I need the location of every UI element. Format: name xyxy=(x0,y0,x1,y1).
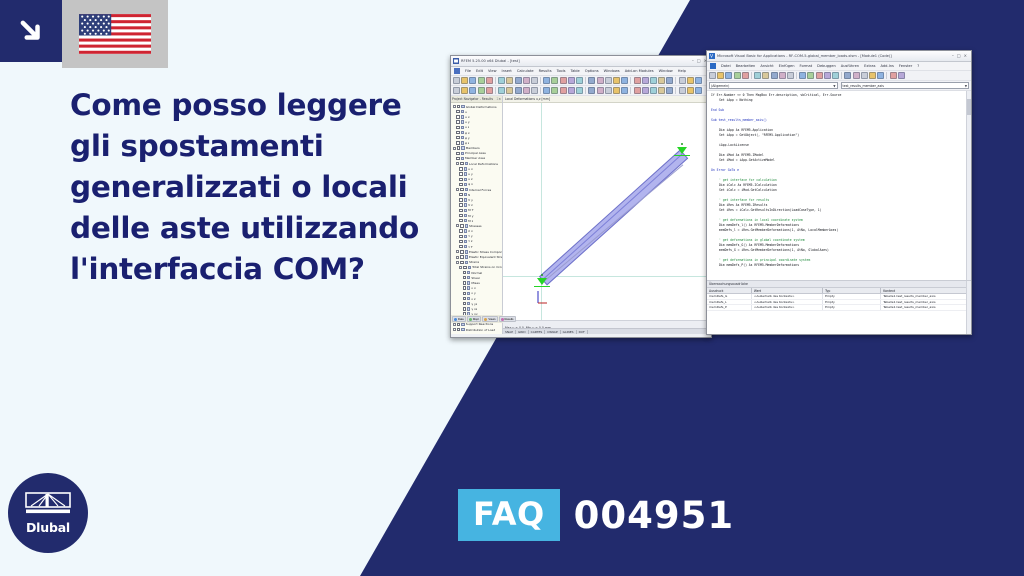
rfem-menubar[interactable]: File Edit View Insert Calculate Results … xyxy=(451,67,711,76)
tree-expand-icon[interactable] xyxy=(456,256,459,259)
toolbar-button[interactable] xyxy=(742,72,749,79)
tree-checkbox[interactable] xyxy=(459,245,462,248)
toolbar-button[interactable] xyxy=(877,72,884,79)
menu-item-results[interactable]: Results xyxy=(539,69,552,73)
rfem-toolbar-row-1[interactable] xyxy=(451,76,711,86)
menu-item-edit[interactable]: Edit xyxy=(476,69,483,73)
tab-dot-icon xyxy=(484,318,487,321)
tree-node-label: φ z xyxy=(465,141,470,145)
toolbar-button[interactable] xyxy=(621,87,628,94)
tree-node-label: V z xyxy=(468,203,473,207)
toolbar-button[interactable] xyxy=(725,72,732,79)
model-canvas[interactable] xyxy=(503,103,711,334)
tree-node-icon xyxy=(461,152,464,155)
faq-label: FAQ xyxy=(458,489,560,541)
column-header-type[interactable]: Typ xyxy=(823,288,881,293)
toolbar-button[interactable] xyxy=(515,87,522,94)
tree-node-label: Total Strains on Cross-Se. xyxy=(472,265,502,269)
tree-checkbox[interactable] xyxy=(456,136,459,139)
tree-node-icon xyxy=(464,240,467,243)
tree-node-label: Stresses xyxy=(469,224,482,228)
tree-checkbox[interactable] xyxy=(459,193,462,196)
toolbar-button[interactable] xyxy=(531,87,538,94)
tree-node-label: γ xz xyxy=(471,307,477,311)
menu-item-table[interactable]: Table xyxy=(570,69,579,73)
menu-item-ansicht[interactable]: Ansicht xyxy=(760,64,773,68)
tree-node-icon xyxy=(461,157,464,160)
navigator-header: Project Navigator - Results ⌶✕ xyxy=(451,96,502,103)
rfem-title-text: RFEM 5.25.00 x64 Dlubal - [test] xyxy=(461,59,690,63)
toolbar-button[interactable] xyxy=(799,72,806,79)
tree-checkbox[interactable] xyxy=(459,172,462,175)
tree-node-icon xyxy=(461,105,464,108)
toolbar-button[interactable] xyxy=(588,87,595,94)
rfem-toolbar-row-2[interactable] xyxy=(451,86,711,96)
menu-item-file[interactable]: File xyxy=(465,69,471,73)
toolbar-button[interactable] xyxy=(498,87,505,94)
tree-expand-icon[interactable] xyxy=(456,162,459,165)
toolbar-button[interactable] xyxy=(762,72,769,79)
statusbar-cell[interactable]: SNAP xyxy=(503,330,516,334)
toolbar-button[interactable] xyxy=(597,87,604,94)
menu-item-ausfuehren[interactable]: Ausführen xyxy=(841,64,859,68)
maximize-button[interactable]: □ xyxy=(957,54,961,58)
column-header-context[interactable]: Kontext xyxy=(881,288,971,293)
toolbar-button[interactable] xyxy=(498,77,505,84)
tree-node-label: Mises xyxy=(471,281,479,285)
toolbar-separator xyxy=(841,72,842,79)
toolbar-button[interactable] xyxy=(658,87,665,94)
toolbar-button[interactable] xyxy=(695,87,702,94)
toolbar-button[interactable] xyxy=(650,77,657,84)
menu-item-addon-modules[interactable]: Add-on Modules xyxy=(625,69,654,73)
support-end-icon[interactable] xyxy=(677,147,687,154)
navigator-tab-label: Results xyxy=(505,318,514,321)
toolbar-button[interactable] xyxy=(506,77,513,84)
procedure-combo-value: test_results_member_axis xyxy=(843,84,884,88)
toolbar-button[interactable] xyxy=(807,72,814,79)
statusbar-cell[interactable]: OSNAP xyxy=(545,330,560,334)
tree-node-label: M y xyxy=(468,214,473,218)
menu-item-extras[interactable]: Extras xyxy=(864,64,875,68)
dlubal-truss-icon xyxy=(25,492,71,518)
toolbar-button[interactable] xyxy=(634,77,641,84)
tree-expand-icon[interactable] xyxy=(456,250,459,253)
tree-node-icon xyxy=(464,198,467,201)
arrow-badge xyxy=(0,0,62,62)
code-scrollbar[interactable] xyxy=(966,91,971,280)
toolbar-button[interactable] xyxy=(658,77,665,84)
tree-checkbox[interactable] xyxy=(459,214,462,217)
tree-node-icon xyxy=(461,110,464,113)
tree-node-label: V y xyxy=(468,198,473,202)
tree-node-icon xyxy=(468,266,471,269)
tree-checkbox[interactable] xyxy=(459,198,462,201)
toolbar-button[interactable] xyxy=(709,72,716,79)
toolbar-button[interactable] xyxy=(861,72,868,79)
tree-checkbox[interactable] xyxy=(459,203,462,206)
tree-expand-icon[interactable] xyxy=(456,188,459,191)
tree-expand-icon[interactable] xyxy=(453,147,456,150)
statusbar-cell[interactable]: CARTES xyxy=(529,330,546,334)
tree-node[interactable]: Distribution of Load xyxy=(452,327,502,332)
menu-item-bearbeiten[interactable]: Bearbeiten xyxy=(736,64,756,68)
tree-node-icon xyxy=(465,255,468,258)
tree-checkbox[interactable] xyxy=(459,178,462,181)
page-title: Come posso leggere gli spostamenti gener… xyxy=(70,85,430,290)
vba-menubar[interactable]: Datei Bearbeiten Ansicht Einfügen Format… xyxy=(707,62,971,71)
toolbar-button[interactable] xyxy=(832,72,839,79)
rfem-app-icon xyxy=(453,58,459,64)
menu-item-help[interactable]: ? xyxy=(917,64,919,68)
toolbar-separator xyxy=(675,87,676,94)
menu-item-insert[interactable]: Insert xyxy=(502,69,512,73)
toolbar-button[interactable] xyxy=(515,77,522,84)
tree-checkbox[interactable] xyxy=(463,286,466,289)
toolbar-button[interactable] xyxy=(613,87,620,94)
toolbar-button[interactable] xyxy=(621,77,628,84)
tree-checkbox[interactable] xyxy=(463,302,466,305)
toolbar-button[interactable] xyxy=(551,77,558,84)
toolbar-button[interactable] xyxy=(486,77,493,84)
toolbar-button[interactable] xyxy=(531,77,538,84)
toolbar-button[interactable] xyxy=(687,87,694,94)
tree-node-icon xyxy=(461,323,464,326)
code-line[interactable]: Dim memDefs_P() As RFEM5.MemberDeformati… xyxy=(711,263,970,268)
tree-checkbox[interactable] xyxy=(463,281,466,284)
menu-item-window[interactable]: Window xyxy=(659,69,673,73)
watch-scrollbar[interactable] xyxy=(966,281,971,335)
watch-cell: <Außerhalb des Kontexts> xyxy=(752,305,823,310)
tree-node-icon xyxy=(461,141,464,144)
tree-checkbox[interactable] xyxy=(459,219,462,222)
tree-checkbox[interactable] xyxy=(456,115,459,118)
toolbar-button[interactable] xyxy=(576,77,583,84)
watch-window[interactable]: Überwachungsausdrücke Ausdruck Wert Typ … xyxy=(707,281,971,335)
tree-node-label: M z xyxy=(468,219,473,223)
toolbar-button[interactable] xyxy=(898,72,905,79)
navigator-tab-displ[interactable]: Displ. xyxy=(467,316,482,322)
tree-node-icon xyxy=(467,281,470,284)
toolbar-separator xyxy=(540,87,541,94)
rfem-titlebar[interactable]: RFEM 5.25.00 x64 Dlubal - [test] – □ × xyxy=(451,56,711,67)
toolbar-button[interactable] xyxy=(642,87,649,94)
toolbar-button[interactable] xyxy=(679,77,686,84)
statusbar-cell[interactable]: GLINES xyxy=(561,330,577,334)
results-tree[interactable]: Global Deformationsuu xu yu zφ xφ yφ zMe… xyxy=(451,103,502,332)
toolbar-button[interactable] xyxy=(597,77,604,84)
tree-node-label: ε z xyxy=(471,297,475,301)
tree-checkbox[interactable] xyxy=(463,266,466,269)
tree-checkbox[interactable] xyxy=(457,105,460,108)
navigator-tab-label: Views xyxy=(488,318,495,321)
member-axis-line xyxy=(544,154,683,279)
menu-item-fenster[interactable]: Fenster xyxy=(899,64,912,68)
tree-node-label: ε y xyxy=(471,291,475,295)
tree-node-label: Strains xyxy=(469,260,479,264)
toolbar-button[interactable] xyxy=(543,77,550,84)
toolbar-button[interactable] xyxy=(642,77,649,84)
toolbar-separator xyxy=(675,77,676,84)
column-header-value[interactable]: Wert xyxy=(752,288,823,293)
tree-expand-icon[interactable] xyxy=(456,261,459,264)
tree-node-label: M T xyxy=(468,208,473,212)
toolbar-button[interactable] xyxy=(734,72,741,79)
toolbar-separator xyxy=(630,77,631,84)
toolbar-separator xyxy=(495,77,496,84)
scrollbar-thumb[interactable] xyxy=(967,99,971,115)
toolbar-button[interactable] xyxy=(461,77,468,84)
tree-node-label: Members xyxy=(466,146,480,150)
watch-cell: <Außerhalb des Kontexts> xyxy=(752,294,823,299)
object-combo[interactable]: (Allgemein) ▼ xyxy=(709,82,838,89)
tree-checkbox[interactable] xyxy=(460,188,463,191)
toolbar-separator xyxy=(540,77,541,84)
tree-checkbox[interactable] xyxy=(456,126,459,129)
watch-cell: memDefs_G xyxy=(707,294,752,299)
tree-node-icon xyxy=(465,188,468,191)
tree-expand-icon[interactable] xyxy=(453,328,456,331)
menu-item-debuggen[interactable]: Debuggen xyxy=(817,64,836,68)
tree-node-icon xyxy=(461,131,464,134)
toolbar-button[interactable] xyxy=(453,77,460,84)
code-lines[interactable]: If Err.Number <> 0 Then MsgBox Err.descr… xyxy=(711,93,970,268)
tab-dot-icon xyxy=(469,318,472,321)
toolbar-button[interactable] xyxy=(478,77,485,84)
rfem-statusbar-cells[interactable]: SNAPGRIDCARTESOSNAPGLINESDXF xyxy=(503,328,711,334)
toolbar-button[interactable] xyxy=(824,72,831,79)
chevron-down-icon[interactable]: ▼ xyxy=(833,84,835,88)
tree-expand-icon[interactable] xyxy=(453,323,456,326)
menu-item-view[interactable]: View xyxy=(488,69,497,73)
watch-rows[interactable]: memDefs_G<Außerhalb des Kontexts>EmptyTa… xyxy=(707,294,971,311)
tree-node-icon xyxy=(467,276,470,279)
toolbar-button[interactable] xyxy=(568,77,575,84)
toolbar-button[interactable] xyxy=(779,72,786,79)
rfem-window[interactable]: RFEM 5.25.00 x64 Dlubal - [test] – □ × F… xyxy=(450,55,712,338)
toolbar-button[interactable] xyxy=(543,87,550,94)
tree-checkbox[interactable] xyxy=(460,224,463,227)
flag-united-states-icon xyxy=(79,14,151,54)
menu-item-format[interactable]: Format xyxy=(800,64,813,68)
tree-checkbox[interactable] xyxy=(463,271,466,274)
vba-titlebar[interactable]: V Microsoft Visual Basic for Application… xyxy=(707,51,971,62)
toolbar-button[interactable] xyxy=(695,77,702,84)
menu-item-einfuegen[interactable]: Einfügen xyxy=(779,64,795,68)
tree-node-icon xyxy=(467,271,470,274)
toolbar-button[interactable] xyxy=(560,77,567,84)
support-start-icon[interactable] xyxy=(537,278,547,285)
model-viewport[interactable]: Local Deformations u,z [mm] xyxy=(503,96,711,334)
watch-row[interactable]: memDefs_P<Außerhalb des Kontexts>EmptyTa… xyxy=(707,305,971,311)
project-navigator[interactable]: Project Navigator - Results ⌶✕ Global De… xyxy=(451,96,503,334)
tree-checkbox[interactable] xyxy=(463,292,466,295)
tree-expand-icon[interactable] xyxy=(459,266,462,269)
menu-item-options[interactable]: Options xyxy=(585,69,599,73)
navigator-tab-strip[interactable]: DataDispl.ViewsResults xyxy=(451,315,503,323)
minimize-button[interactable]: – xyxy=(692,59,694,63)
toolbar-button[interactable] xyxy=(666,87,673,94)
vba-combo-row[interactable]: (Allgemein) ▼ test_results_member_axis ▼ xyxy=(707,81,971,91)
support-end-bar xyxy=(674,155,690,156)
tree-node-icon xyxy=(461,120,464,123)
menu-item-tools[interactable]: Tools xyxy=(557,69,566,73)
tree-checkbox[interactable] xyxy=(463,307,466,310)
toolbar-button[interactable] xyxy=(453,87,460,94)
tree-checkbox[interactable] xyxy=(460,250,463,253)
tree-node-label: Member Axes xyxy=(465,156,485,160)
toolbar-button[interactable] xyxy=(523,77,530,84)
tree-checkbox[interactable] xyxy=(456,152,459,155)
watch-cell: Tabelle1.test_results_member_axis xyxy=(881,300,971,305)
chevron-down-icon[interactable]: ▼ xyxy=(965,84,967,88)
vba-window[interactable]: V Microsoft Visual Basic for Application… xyxy=(706,50,972,335)
tab-dot-icon xyxy=(454,318,457,321)
tree-checkbox[interactable] xyxy=(459,235,462,238)
tree-node-label: u x xyxy=(465,115,470,119)
tree-checkbox[interactable] xyxy=(459,183,462,186)
grid-line-horizontal xyxy=(503,276,711,277)
toolbar-separator xyxy=(585,77,586,84)
toolbar-button[interactable] xyxy=(461,87,468,94)
tree-checkbox[interactable] xyxy=(456,157,459,160)
toolbar-button[interactable] xyxy=(478,87,485,94)
toolbar-button[interactable] xyxy=(687,77,694,84)
tree-node-icon xyxy=(467,292,470,295)
tree-node-icon xyxy=(461,115,464,118)
tree-expand-icon[interactable] xyxy=(456,224,459,227)
tree-checkbox[interactable] xyxy=(460,261,463,264)
tree-checkbox[interactable] xyxy=(456,120,459,123)
tree-node-icon xyxy=(465,250,468,253)
menu-item-addins[interactable]: Add-Ins xyxy=(880,64,893,68)
column-header-expression[interactable]: Ausdruck xyxy=(707,288,752,293)
toolbar-button[interactable] xyxy=(605,77,612,84)
tree-checkbox[interactable] xyxy=(460,162,463,165)
toolbar-button[interactable] xyxy=(853,72,860,79)
tree-checkbox[interactable] xyxy=(456,110,459,113)
code-editor[interactable]: If Err.Number <> 0 Then MsgBox Err.descr… xyxy=(707,91,971,281)
tree-node-label: Internal Forces xyxy=(469,188,491,192)
tree-checkbox[interactable] xyxy=(460,255,463,258)
toolbar-button[interactable] xyxy=(816,72,823,79)
toolbar-button[interactable] xyxy=(568,87,575,94)
toolbar-button[interactable] xyxy=(890,72,897,79)
navigator-header-text: Project Navigator - Results xyxy=(452,97,493,101)
vba-toolbar[interactable] xyxy=(707,71,971,81)
toolbar-button[interactable] xyxy=(605,87,612,94)
tree-checkbox[interactable] xyxy=(456,141,459,144)
menu-item-windows[interactable]: Windows xyxy=(604,69,620,73)
tree-node-icon xyxy=(465,261,468,264)
viewport-tab[interactable]: Local Deformations u,z [mm] xyxy=(503,96,711,103)
support-start-bar xyxy=(534,286,550,287)
navigator-tab-data[interactable]: Data xyxy=(452,316,466,322)
toolbar-button[interactable] xyxy=(576,87,583,94)
tree-checkbox[interactable] xyxy=(459,229,462,232)
navigator-pin-icon[interactable]: ⌶✕ xyxy=(497,97,501,101)
toolbar-button[interactable] xyxy=(869,72,876,79)
toolbar-button[interactable] xyxy=(551,87,558,94)
toolbar-button[interactable] xyxy=(613,77,620,84)
tree-checkbox[interactable] xyxy=(459,240,462,243)
watch-window-title: Überwachungsausdrücke xyxy=(707,281,971,288)
toolbar-button[interactable] xyxy=(666,77,673,84)
axis-indicator-icon xyxy=(535,289,549,305)
toolbar-button[interactable] xyxy=(650,87,657,94)
tree-node-label: Shear xyxy=(471,276,480,280)
vba-window-buttons[interactable]: – □ × xyxy=(952,54,969,58)
toolbar-button[interactable] xyxy=(469,87,476,94)
node-end[interactable] xyxy=(681,143,683,145)
toolbar-button[interactable] xyxy=(771,72,778,79)
tree-node-icon xyxy=(464,172,467,175)
tree-checkbox[interactable] xyxy=(463,297,466,300)
tree-node-label: φ x xyxy=(465,131,470,135)
toolbar-button[interactable] xyxy=(844,72,851,79)
tree-node-label: φ y xyxy=(465,136,470,140)
toolbar-button[interactable] xyxy=(717,72,724,79)
toolbar-button[interactable] xyxy=(787,72,794,79)
watch-cell: Tabelle1.test_results_member_axis xyxy=(881,294,971,299)
toolbar-button[interactable] xyxy=(506,87,513,94)
tree-node-icon xyxy=(461,126,464,129)
toolbar-button[interactable] xyxy=(754,72,761,79)
arrow-down-right-icon xyxy=(16,16,46,46)
menu-item-help[interactable]: Help xyxy=(678,69,686,73)
toolbar-button[interactable] xyxy=(679,87,686,94)
watch-cell: Tabelle1.test_results_member_axis xyxy=(881,305,971,310)
maximize-button[interactable]: □ xyxy=(697,59,701,63)
tree-node-label: τ T xyxy=(468,245,473,249)
tree-node-icon xyxy=(461,328,464,331)
procedure-combo[interactable]: test_results_member_axis ▼ xyxy=(841,82,970,89)
tree-node-label: Elastic Stress Components xyxy=(469,250,502,254)
navigator-tab-results[interactable]: Results xyxy=(499,316,516,322)
toolbar-button[interactable] xyxy=(634,87,641,94)
faq-number: 004951 xyxy=(574,494,734,537)
statusbar-cell[interactable]: GRID xyxy=(516,330,529,334)
tree-checkbox[interactable] xyxy=(457,328,460,331)
close-button[interactable]: × xyxy=(964,54,967,58)
tree-checkbox[interactable] xyxy=(463,276,466,279)
tree-node-icon xyxy=(464,178,467,181)
toolbar-button[interactable] xyxy=(560,87,567,94)
minimize-button[interactable]: – xyxy=(952,54,954,58)
tree-node-label: u x xyxy=(468,167,473,171)
toolbar-button[interactable] xyxy=(469,77,476,84)
statusbar-cell[interactable]: DXF xyxy=(577,330,588,334)
tree-checkbox[interactable] xyxy=(456,131,459,134)
tree-checkbox[interactable] xyxy=(459,209,462,212)
tree-node-icon xyxy=(467,297,470,300)
tree-checkbox[interactable] xyxy=(457,146,460,149)
tree-node-label: Principal Axes xyxy=(465,151,486,155)
navigator-tab-views[interactable]: Views xyxy=(482,316,497,322)
tree-node-icon xyxy=(461,136,464,139)
toolbar-button[interactable] xyxy=(523,87,530,94)
tree-checkbox[interactable] xyxy=(457,323,460,326)
tree-node-icon xyxy=(464,209,467,212)
tree-checkbox[interactable] xyxy=(459,167,462,170)
menu-item-calculate[interactable]: Calculate xyxy=(517,69,534,73)
toolbar-button[interactable] xyxy=(588,77,595,84)
dlubal-logo: Dlubal xyxy=(8,473,88,553)
toolbar-button[interactable] xyxy=(486,87,493,94)
menu-item-datei[interactable]: Datei xyxy=(721,64,731,68)
watch-cell: Empty xyxy=(823,305,881,310)
tree-expand-icon[interactable] xyxy=(453,105,456,108)
